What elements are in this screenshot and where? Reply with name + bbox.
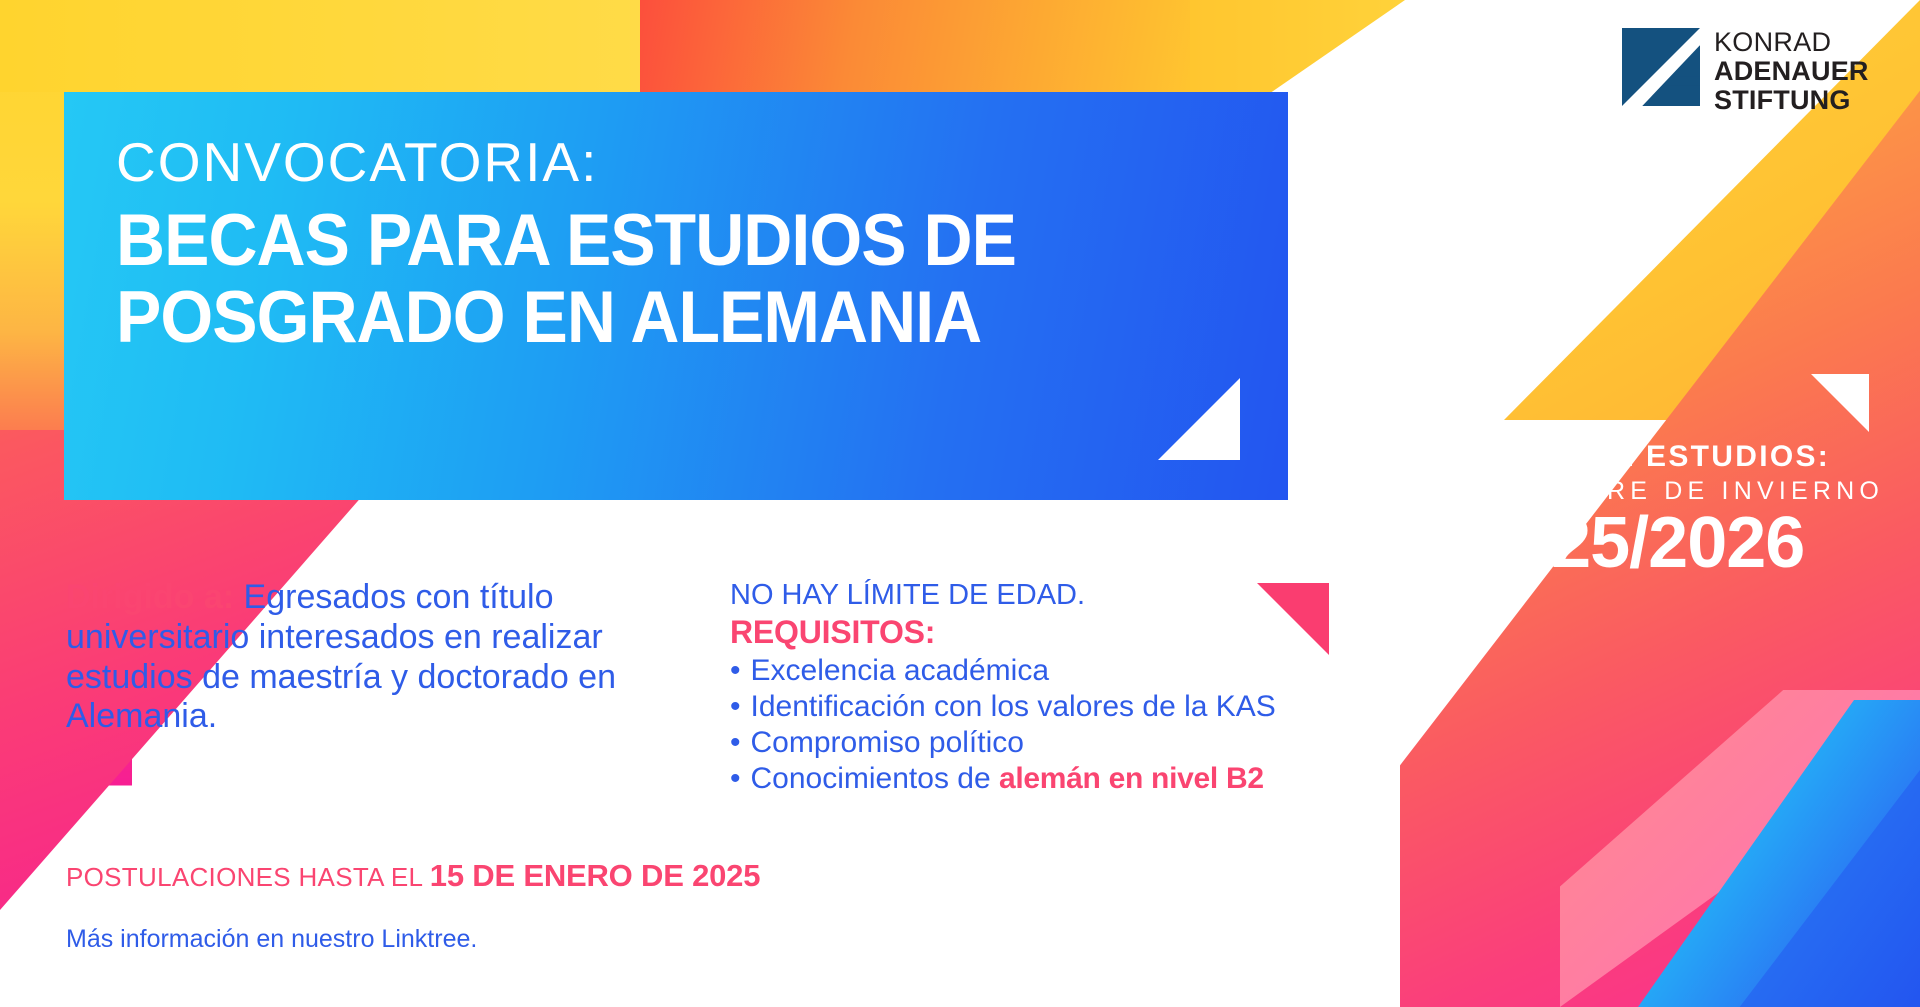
top-yellow-bar: [0, 0, 640, 92]
age-note: NO HAY LÍMITE DE EDAD.: [730, 578, 1310, 612]
start-years: 2025/2026: [1473, 506, 1913, 581]
kas-logo: KONRAD ADENAUER STIFTUNG: [1622, 28, 1869, 114]
requirement-text: Excelencia académica: [751, 654, 1050, 687]
headline-banner: CONVOCATORIA: BECAS PARA ESTUDIOS DE POS…: [64, 92, 1288, 500]
list-item: Conocimientos de alemán en nivel B2: [730, 761, 1310, 797]
requirement-text: Conocimientos de: [751, 762, 999, 795]
requirements-title: REQUISITOS:: [730, 614, 1310, 651]
poster-canvas: KONRAD ADENAUER STIFTUNG CONVOCATORIA: B…: [0, 0, 1920, 1007]
top-yellow-wedge: [1190, 0, 1405, 92]
list-item: Excelencia académica: [730, 653, 1310, 689]
audience-block: Dirigido a: Egresados con título univers…: [66, 578, 666, 737]
start-kicker: INICIO DE ESTUDIOS:: [1473, 440, 1913, 474]
deadline-date: 15 DE ENERO DE 2025: [430, 858, 760, 893]
kas-logo-line-2: ADENAUER: [1714, 58, 1869, 85]
headline-eyebrow: CONVOCATORIA:: [116, 132, 1248, 194]
headline-line-2: POSGRADO EN ALEMANIA: [116, 281, 1169, 354]
requirement-text: Compromiso político: [751, 726, 1024, 759]
headline-text-block: CONVOCATORIA: BECAS PARA ESTUDIOS DE POS…: [116, 132, 1248, 354]
requirements-list: Excelencia académica Identificación con …: [730, 653, 1310, 797]
top-orange-bar: [640, 0, 1200, 92]
more-info-line: Más información en nuestro Linktree.: [66, 925, 477, 954]
audience-lead-label: Dirigido a:: [66, 578, 234, 616]
deadline-line: POSTULACIONES HASTA EL 15 DE ENERO DE 20…: [66, 858, 760, 894]
list-item: Compromiso político: [730, 725, 1310, 761]
kas-logo-wordmark: KONRAD ADENAUER STIFTUNG: [1714, 28, 1869, 114]
kas-logo-line-1: KONRAD: [1714, 29, 1869, 56]
kas-logo-line-3: STIFTUNG: [1714, 87, 1869, 114]
start-of-studies-block: INICIO DE ESTUDIOS: SEMESTRE DE INVIERNO…: [1473, 440, 1913, 581]
audience-paragraph: Dirigido a: Egresados con título univers…: [66, 578, 666, 737]
requirements-block: NO HAY LÍMITE DE EDAD. REQUISITOS: Excel…: [730, 578, 1310, 797]
deadline-prefix: POSTULACIONES HASTA EL: [66, 862, 430, 892]
headline-corner-triangle-icon: [1158, 378, 1240, 460]
list-item: Identificación con los valores de la KAS: [730, 689, 1310, 725]
headline-line-1: BECAS PARA ESTUDIOS DE: [116, 204, 1169, 277]
kas-logo-mark-icon: [1622, 28, 1700, 106]
requirement-emphasis: alemán en nivel B2: [999, 762, 1264, 795]
requirement-text: Identificación con los valores de la KAS: [751, 690, 1276, 723]
start-subtitle: SEMESTRE DE INVIERNO: [1473, 477, 1913, 506]
